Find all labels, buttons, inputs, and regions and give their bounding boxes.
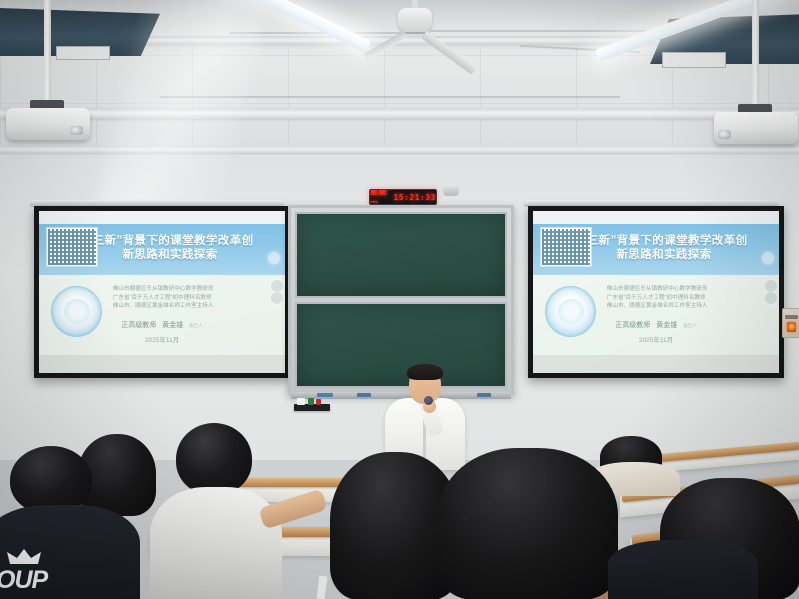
slide-dot xyxy=(762,252,774,264)
projection-screen-right: “三新”背景下的课堂教学改革创 新思路和实践探索 佛山市顺德区乐从镇教研中心数学… xyxy=(528,206,784,378)
slide-title-line2: 新思路和实践探索 xyxy=(581,249,748,263)
blackboard-panel-lower xyxy=(295,302,507,388)
slide-bullet-dots xyxy=(762,252,774,264)
projector-lens-left xyxy=(70,126,83,135)
presenter-name: 黄金雄 xyxy=(656,320,677,330)
projector-pole-right xyxy=(752,0,759,108)
student-white-shirt-head xyxy=(176,423,252,495)
institution-seal-icon xyxy=(51,286,102,337)
slide-title-bar: “三新”背景下的课堂教学改革创 新思路和实践探索 xyxy=(533,224,779,275)
slide-presenter-line: 正高级教师 黄金雄 报告人 xyxy=(121,320,203,330)
shelf-item-green xyxy=(308,398,314,405)
slide-subtitle-line: 佛山市、顺德区黄金雄名师工作室主持人 xyxy=(113,302,285,310)
led-weekday: 星期一 xyxy=(370,189,389,205)
device-indicator-lamp xyxy=(787,322,795,332)
slide-subtitle-line: 佛山市顺德区乐从镇教研中心数学教研员 xyxy=(113,285,285,293)
qr-code-icon xyxy=(46,227,98,267)
presenter-hair xyxy=(407,364,443,380)
slide-subtitle-line: 佛山市顺德区乐从镇教研中心数学教研员 xyxy=(607,285,779,293)
student-white-shirt xyxy=(150,487,282,599)
led-bracket xyxy=(443,186,459,196)
blackboard-panel-upper xyxy=(295,212,507,298)
slide-title-bar: “三新”背景下的课堂教学改革创 新思路和实践探索 xyxy=(39,224,285,275)
presenter-suffix: 报告人 xyxy=(189,323,203,329)
slide-subtitle-line: 广东省“百千万人才工程”初中理科名教师 xyxy=(607,294,779,302)
blackboard xyxy=(288,205,514,395)
ac-grille xyxy=(56,46,110,60)
slide-footer xyxy=(533,355,779,373)
slide-footer xyxy=(39,355,285,373)
drinking-straw xyxy=(317,576,328,599)
wall-shelf xyxy=(294,404,330,411)
ac-grille xyxy=(662,52,726,68)
slide-title-line1: “三新”背景下的课堂教学改革创 xyxy=(87,235,254,249)
classroom-scene: “三新”背景下的课堂教学改革创 新思路和实践探索 佛山市顺德区乐从镇教研中心数学… xyxy=(0,0,799,599)
slide-body: 佛山市顺德区乐从镇教研中心数学教研员 广东省“百千万人才工程”初中理科名教师 佛… xyxy=(533,275,779,356)
slide-bullet-dots xyxy=(268,252,280,264)
chalk-eraser xyxy=(357,393,371,397)
chalk-eraser xyxy=(477,393,491,397)
presenter-title: 正高级教师 xyxy=(121,320,156,330)
slide-dot xyxy=(268,252,280,264)
slide-title-line2: 新思路和实践探索 xyxy=(87,249,254,263)
slide-subtitle-line: 佛山市、顺德区黄金雄名师工作室主持人 xyxy=(607,302,779,310)
ceiling-fan xyxy=(398,8,432,32)
student-long-hair-3 xyxy=(438,448,618,599)
projector-right xyxy=(714,112,798,144)
slide-date: 2025年11月 xyxy=(639,334,673,344)
slide-top-strip xyxy=(533,211,779,224)
device-slot xyxy=(785,315,798,319)
wall-ledge xyxy=(0,146,799,153)
presenter-name: 黄金雄 xyxy=(162,320,183,330)
slide-presenter-line: 正高级教师 黄金雄 报告人 xyxy=(615,320,697,330)
slide-body: 佛山市顺德区乐从镇教研中心数学教研员 广东省“百千万人才工程”初中理科名教师 佛… xyxy=(39,275,285,356)
shelf-item-red xyxy=(316,399,321,405)
institution-seal-icon xyxy=(545,286,596,337)
presenter-title: 正高级教师 xyxy=(615,320,650,330)
student-dark-shirt-left-head xyxy=(10,446,92,514)
student-right-body xyxy=(608,540,758,599)
qr-code-icon xyxy=(540,227,592,267)
slide-title-line1: “三新”背景下的课堂教学改革创 xyxy=(581,235,748,249)
slide-right: “三新”背景下的课堂教学改革创 新思路和实践探索 佛山市顺德区乐从镇教研中心数学… xyxy=(533,211,779,373)
projector-left xyxy=(6,108,90,140)
shirt-graphic-text: OUP xyxy=(0,566,56,596)
slide-date: 2025年11月 xyxy=(145,334,179,344)
slide-left: “三新”背景下的课堂教学改革创 新思路和实践探索 佛山市顺德区乐从镇教研中心数学… xyxy=(39,211,285,373)
handheld-microphone xyxy=(424,396,433,405)
fire-alarm-call-point[interactable] xyxy=(782,308,799,338)
led-clock-display: 星期一 15:21:33 xyxy=(369,189,437,205)
chalk-eraser xyxy=(317,393,333,397)
ceiling-beam xyxy=(0,108,799,119)
projector-pole-left xyxy=(44,0,51,104)
wall-conduit xyxy=(160,96,620,98)
slide-top-strip xyxy=(39,211,285,224)
slide-subtitle-line: 广东省“百千万人才工程”初中理科名教师 xyxy=(113,294,285,302)
projection-screen-left: “三新”背景下的课堂教学改革创 新思路和实践探索 佛山市顺德区乐从镇教研中心数学… xyxy=(34,206,290,378)
projector-lens-right xyxy=(718,130,731,139)
led-time: 15:21:33 xyxy=(393,193,436,202)
presenter-suffix: 报告人 xyxy=(683,323,697,329)
shelf-item-white xyxy=(297,398,305,405)
